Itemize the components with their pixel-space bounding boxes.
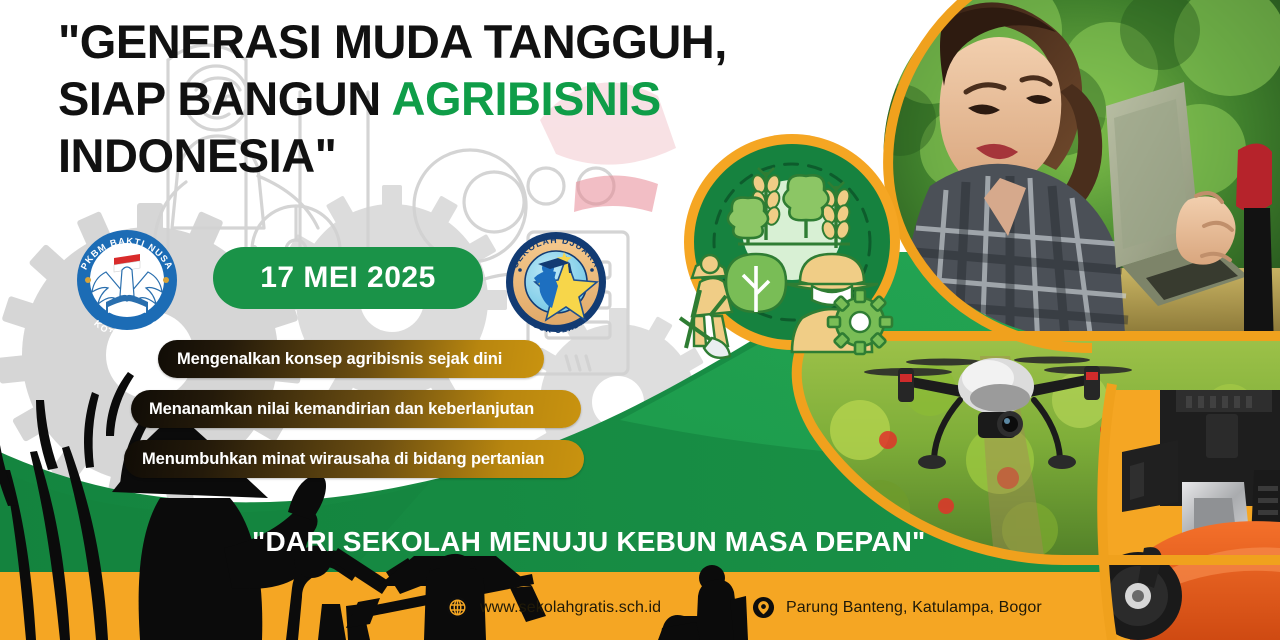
headline-accent-word: AGRIBISNIS [392,72,661,125]
footer-address-label: Parung Banteng, Katulampa, Bogor [786,599,1042,617]
globe-icon [446,596,469,619]
location-pin-icon [752,596,775,619]
orange-lawn-mower-photo [1090,380,1280,640]
headline-line-2-prefix: SIAP BANGUN [58,72,392,125]
headline-line-1: "GENERASI MUDA TANGGUH, [58,14,778,71]
bullet-pill-1-label: Mengenalkan konsep agribisnis sejak dini [177,350,502,369]
event-date-pill: 17 MEI 2025 [213,247,483,309]
bullet-pill-2-label: Menanamkan nilai kemandirian dan keberla… [149,400,534,419]
headline-line-3: INDONESIA" [58,128,778,185]
footer-address[interactable]: Parung Banteng, Katulampa, Bogor [752,596,1042,619]
bullet-pill-3: Menumbuhkan minat wirausaha di bidang pe… [124,440,584,478]
tagline: "DARI SEKOLAH MENUJU KEBUN MASA DEPAN" [252,526,926,558]
page-title: "GENERASI MUDA TANGGUH, SIAP BANGUN AGRI… [58,14,778,185]
bullet-pill-2: Menanamkan nilai kemandirian dan keberla… [131,390,581,428]
bullet-pill-3-label: Menumbuhkan minat wirausaha di bidang pe… [142,450,544,469]
sekolah-djuara-seal-icon: SEKOLAH DJUARA BOGOR CERDAS [500,230,612,334]
footer-website[interactable]: www.sekolahgratis.sch.id [446,596,661,619]
event-banner: "GENERASI MUDA TANGGUH, SIAP BANGUN AGRI… [0,0,1280,640]
footer-website-label: www.sekolahgratis.sch.id [480,599,661,617]
bullet-pill-1: Mengenalkan konsep agribisnis sejak dini [158,340,544,378]
event-date-label: 17 MEI 2025 [260,261,436,295]
headline-line-2: SIAP BANGUN AGRIBISNIS [58,71,778,128]
pkbm-bakti-nusa-seal-icon: PKBM BAKTI NUSA KOTA BOGOR [66,228,188,332]
